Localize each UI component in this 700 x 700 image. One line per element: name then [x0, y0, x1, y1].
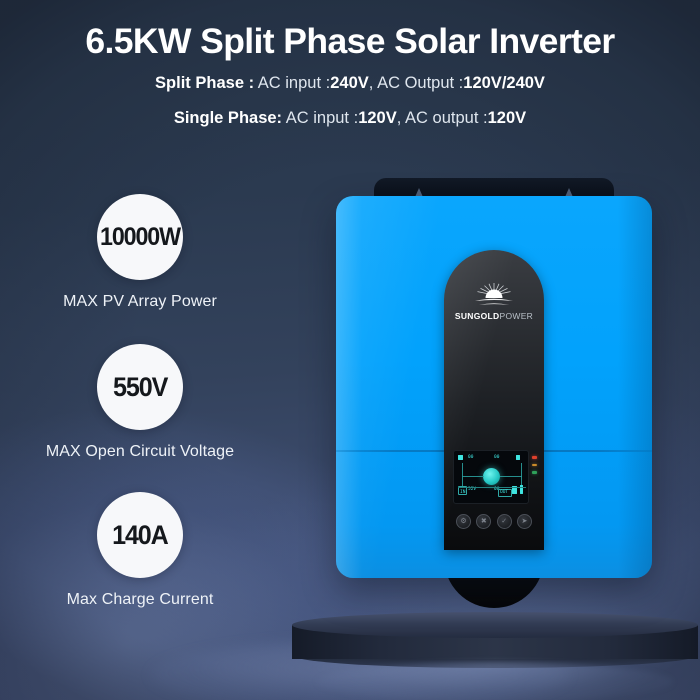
badge-caption: Max Charge Current — [40, 591, 240, 609]
confirm-button[interactable]: ✓ — [497, 514, 512, 529]
brand-logo: SUNGOLDPOWER — [444, 282, 544, 321]
lcd-inverter-hub-icon — [483, 468, 500, 485]
badge-value: 140A — [112, 520, 168, 551]
badge-circle: 550V — [97, 344, 183, 430]
single-phase-label: Single Phase: — [174, 109, 282, 127]
control-button-row: ⚙ ✖ ✓ ➤ — [456, 514, 532, 529]
split-phase-comma: , — [369, 74, 374, 92]
lcd-flow-line-up-right — [521, 463, 522, 476]
lcd-pv-voltage: 00 — [468, 455, 473, 460]
lcd-flow-line-up-left — [462, 463, 463, 476]
brand-name-bold: SUNGOLD — [455, 311, 500, 321]
solar-inverter-product-image: SUNGOLDPOWER 00 00 52V — [318, 178, 670, 638]
split-phase-input-label: AC input : — [258, 74, 330, 92]
badge-value: 550V — [113, 372, 167, 403]
settings-button[interactable]: ⚙ — [456, 514, 471, 529]
warning-led-icon — [532, 464, 537, 467]
sunrise-logo-icon — [467, 282, 521, 308]
single-phase-input-value: 120V — [358, 109, 397, 127]
status-led-icon — [532, 471, 537, 474]
badge-caption: MAX Open Circuit Voltage — [22, 443, 258, 461]
badge-circle: 140A — [97, 492, 183, 578]
split-phase-input-value: 240V — [330, 74, 369, 92]
status-led-stack — [532, 456, 540, 479]
lcd-output-label: OUT — [500, 490, 508, 495]
single-phase-output-label: AC output : — [405, 109, 488, 127]
control-panel: SUNGOLDPOWER 00 00 52V — [444, 250, 544, 550]
feature-badge-max-pv-array-power: 10000W MAX PV Array Power — [44, 194, 236, 311]
product-marketing-image: 6.5KW Split Phase Solar Inverter Split P… — [0, 0, 700, 700]
badge-caption: MAX PV Array Power — [44, 293, 236, 311]
fault-led-icon — [532, 456, 537, 459]
single-phase-comma: , — [397, 109, 402, 127]
pv-panel-icon — [458, 455, 463, 460]
body-shadow — [618, 196, 652, 578]
lcd-flow-line-right — [500, 476, 522, 477]
next-button[interactable]: ➤ — [517, 514, 532, 529]
lcd-status-bar: IN OUT — [458, 487, 526, 499]
single-phase-output-value: 120V — [488, 109, 527, 127]
header: 6.5KW Split Phase Solar Inverter Split P… — [0, 0, 700, 126]
split-phase-label: Split Phase : — [155, 74, 254, 92]
spec-line-single-phase: Single Phase: AC input :120V, AC output … — [0, 110, 700, 127]
spec-line-split-phase: Split Phase : AC input :240V, AC Output … — [0, 75, 700, 92]
page-title: 6.5KW Split Phase Solar Inverter — [0, 0, 700, 60]
feature-badge-max-open-circuit-voltage: 550V MAX Open Circuit Voltage — [22, 344, 258, 461]
escape-button[interactable]: ✖ — [476, 514, 491, 529]
sunrise-icon-svg — [467, 282, 521, 308]
lcd-flow-line-left — [462, 476, 484, 477]
pedestal-reflection — [316, 662, 674, 700]
split-phase-output-value: 120V/240V — [463, 74, 545, 92]
lcd-pv-power: 00 — [494, 455, 499, 460]
badge-circle: 10000W — [97, 194, 183, 280]
feature-badge-max-charge-current: 140A Max Charge Current — [40, 492, 240, 609]
brand-name-light: POWER — [499, 311, 533, 321]
lcd-content: 00 00 52V 00 IN — [456, 453, 526, 501]
brand-name: SUNGOLDPOWER — [444, 311, 544, 321]
lcd-display[interactable]: 00 00 52V 00 IN — [453, 450, 529, 504]
lcd-grid-label: IN — [460, 490, 465, 495]
badge-value: 10000W — [100, 223, 180, 252]
single-phase-input-label: AC input : — [286, 109, 358, 127]
body-highlight — [336, 196, 362, 578]
grid-icon — [516, 455, 520, 460]
split-phase-output-label: AC Output : — [377, 74, 463, 92]
